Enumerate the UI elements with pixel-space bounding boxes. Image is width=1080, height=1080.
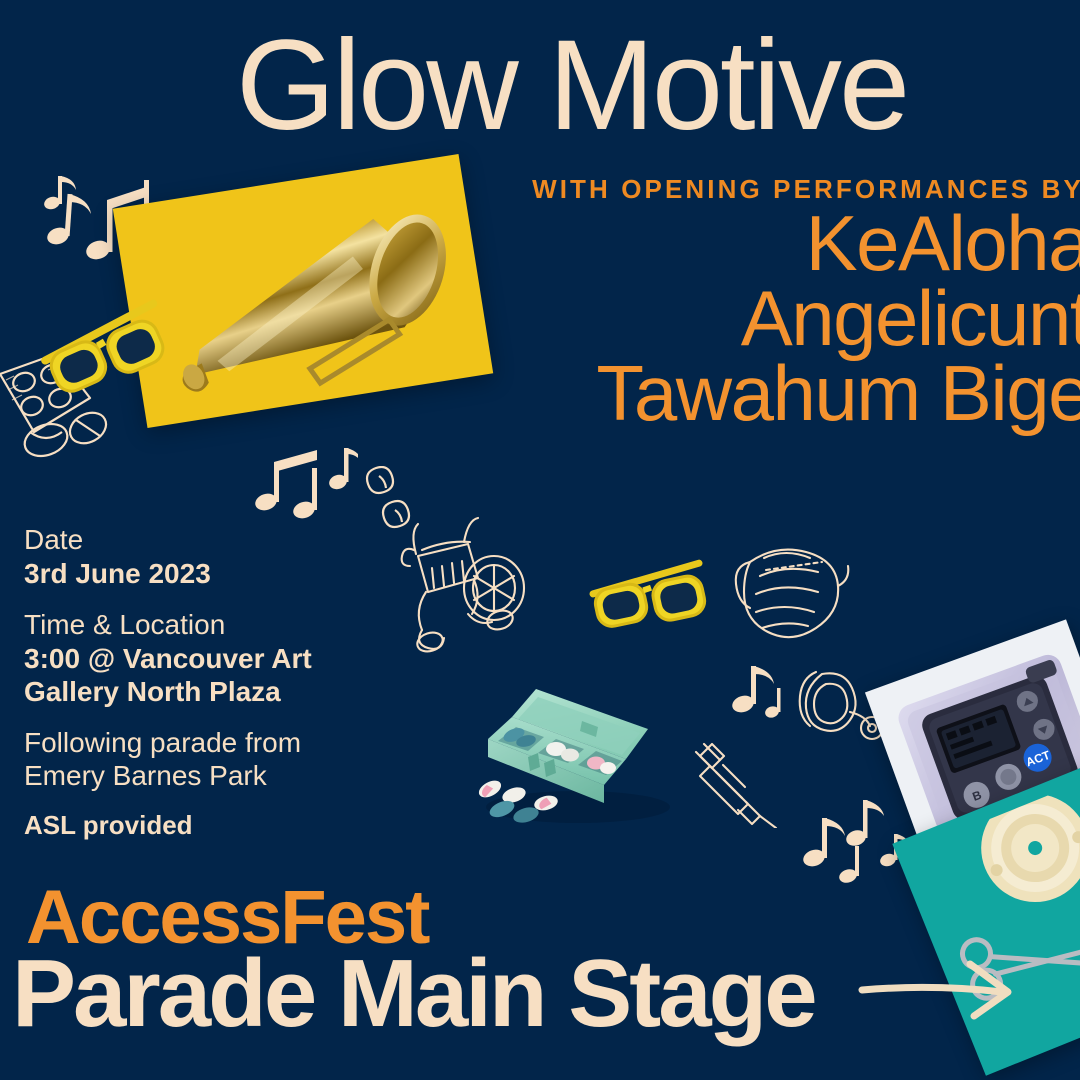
date-group: Date 3rd June 2023 xyxy=(24,523,444,590)
time-location-value-line2: Gallery North Plaza xyxy=(24,675,444,708)
time-location-value-line1: 3:00 @ Vancouver Art xyxy=(24,642,444,675)
page-title: Glow Motive xyxy=(236,22,907,150)
text-layer: Glow Motive WITH OPENING PERFORMANCES BY… xyxy=(0,0,1080,1080)
performer-name: KeAloha xyxy=(596,206,1080,281)
parade-line1: Following parade from xyxy=(24,726,444,759)
parade-line2: Emery Barnes Park xyxy=(24,759,444,792)
event-details: Date 3rd June 2023 Time & Location 3:00 … xyxy=(24,523,444,842)
parade-group: Following parade from Emery Barnes Park xyxy=(24,726,444,792)
accessibility-note: ASL provided xyxy=(24,810,444,841)
time-location-label: Time & Location xyxy=(24,608,444,642)
performer-list: KeAloha Angelicunt Tawahum Bige xyxy=(596,206,1080,431)
stage-name: Parade Main Stage xyxy=(12,946,815,1042)
performer-name: Angelicunt xyxy=(596,281,1080,356)
event-poster: ACT B xyxy=(0,0,1080,1080)
date-label: Date xyxy=(24,523,444,557)
date-value: 3rd June 2023 xyxy=(24,557,444,590)
performer-name: Tawahum Bige xyxy=(596,356,1080,431)
time-location-group: Time & Location 3:00 @ Vancouver Art Gal… xyxy=(24,608,444,708)
